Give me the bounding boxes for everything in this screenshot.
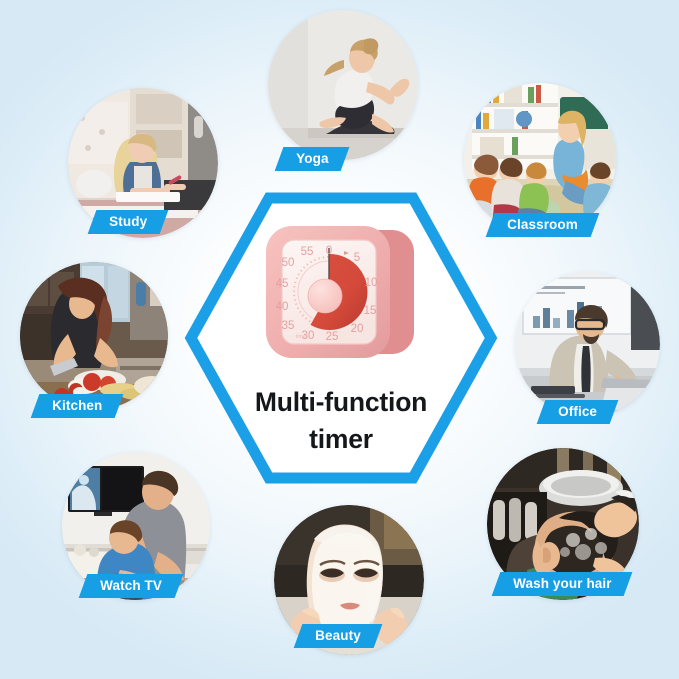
feature-node-washhair[interactable]: Wash your hair [487, 448, 639, 600]
feature-node-yoga[interactable]: Yoga [268, 10, 418, 160]
caption-line-1: Multi-function [198, 384, 484, 421]
svg-text:20: 20 [351, 323, 364, 335]
node-label-office: Office [537, 400, 619, 424]
svg-text:timer: timer [296, 334, 307, 340]
svg-text:55: 55 [301, 246, 314, 258]
node-label-washhair: Wash your hair [492, 572, 633, 596]
node-label-classroom: Classroom [486, 213, 599, 237]
photo-yoga [268, 10, 418, 160]
feature-node-office[interactable]: Office [515, 272, 660, 417]
svg-text:45: 45 [276, 278, 289, 290]
svg-text:40: 40 [276, 301, 289, 313]
caption-line-2: timer [198, 421, 484, 458]
product-timer: 0 5 10 15 20 25 30 35 40 45 50 55 timer [258, 218, 423, 373]
photo-kitchen [20, 262, 168, 410]
svg-text:5: 5 [354, 252, 360, 264]
node-label-yoga: Yoga [275, 147, 350, 171]
node-label-kitchen: Kitchen [31, 394, 124, 418]
photo-office [515, 272, 660, 417]
page-title: Multi-function timer [198, 384, 484, 457]
svg-text:10: 10 [365, 277, 378, 289]
feature-node-beauty[interactable]: Beauty [274, 505, 424, 655]
node-label-beauty: Beauty [294, 624, 382, 648]
node-label-watchtv: Watch TV [79, 574, 184, 598]
svg-text:0: 0 [326, 245, 332, 257]
svg-text:15: 15 [364, 305, 377, 317]
svg-text:50: 50 [282, 257, 295, 269]
svg-text:35: 35 [282, 320, 295, 332]
feature-node-kitchen[interactable]: Kitchen [20, 262, 168, 410]
node-label-study: Study [88, 210, 169, 234]
svg-text:25: 25 [326, 331, 339, 343]
